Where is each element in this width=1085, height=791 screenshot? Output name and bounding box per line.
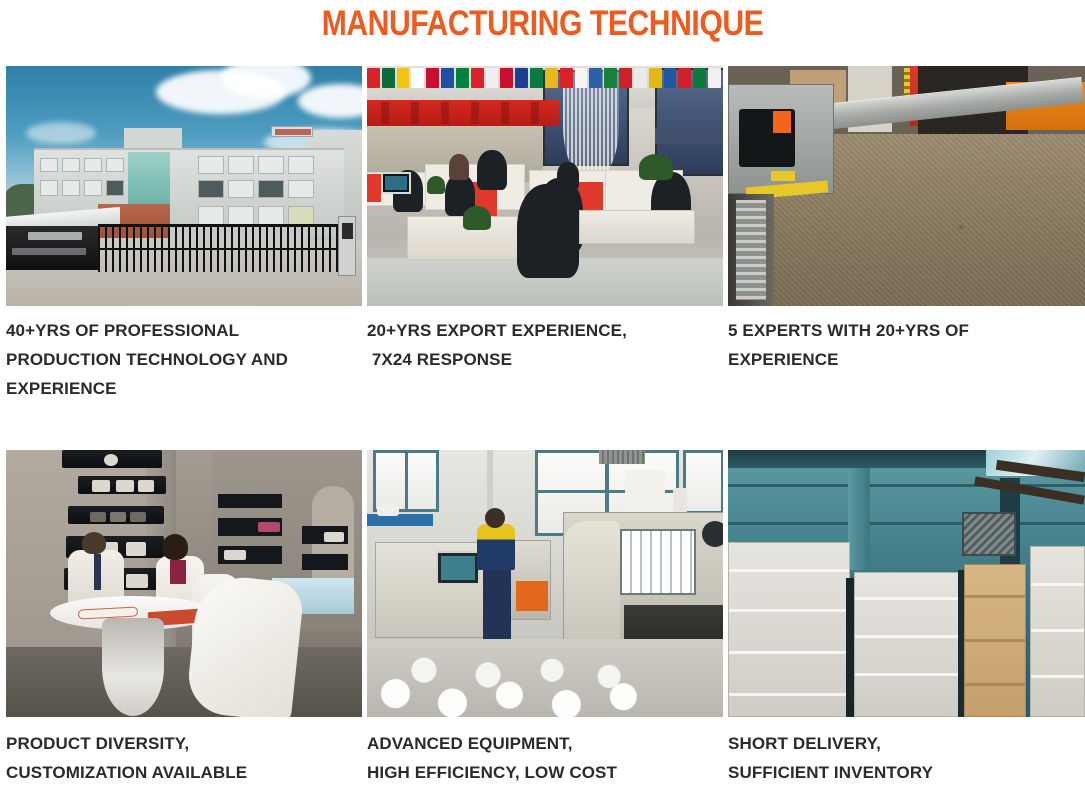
potted-plant [639, 154, 673, 180]
display-product [104, 454, 118, 466]
air-cooler-unit [962, 512, 1016, 556]
window-mullion [405, 450, 408, 512]
building-sign [271, 126, 313, 137]
office-desk [579, 210, 695, 244]
flag [560, 68, 573, 88]
cnc-cutting-machine-image[interactable] [728, 66, 1085, 306]
window [198, 180, 224, 198]
glass-curtain-wall [128, 152, 170, 208]
ceiling-duct [599, 450, 645, 464]
feature-card-product-diversity[interactable]: PRODUCT DIVERSITY,CUSTOMIZATION AVAILABL… [6, 450, 362, 787]
cnc-lathe-left [375, 542, 487, 638]
manufacturing-technique-section: MANUFACTURING TECHNIQUE [0, 0, 1085, 791]
feature-caption: 40+YRS OF PROFESSIONALPRODUCTION TECHNOL… [6, 306, 362, 403]
cutting-head-assembly [728, 84, 834, 194]
wrapped-pallet [854, 572, 960, 717]
machine-window-grid [620, 529, 696, 595]
flag [515, 68, 528, 88]
seated-man-head [82, 532, 106, 554]
window [258, 206, 284, 226]
wrapped-pallet [728, 542, 850, 717]
wrapped-pallet [1030, 546, 1085, 717]
distant-hills [655, 128, 723, 144]
flag [530, 68, 543, 88]
warehouse-stacked-pallets-image[interactable] [728, 450, 1085, 717]
page-title: MANUFACTURING TECHNIQUE [76, 4, 1009, 44]
showroom-floor [6, 647, 362, 717]
window [258, 156, 284, 174]
flag [426, 68, 439, 88]
display-product [224, 550, 246, 560]
office-worker [477, 150, 507, 190]
flag [456, 68, 469, 88]
cloud-shape [26, 122, 96, 144]
feature-caption: PRODUCT DIVERSITY,CUSTOMIZATION AVAILABL… [6, 717, 362, 787]
caption-line: 40+YRS OF PROFESSIONAL [6, 321, 239, 340]
window [198, 156, 224, 174]
display-niche [302, 554, 348, 570]
feature-card-export-experience[interactable]: 20+YRS EXPORT EXPERIENCE, 7X24 RESPONSE [367, 66, 723, 374]
flag [575, 68, 588, 88]
caption-line: 5 EXPERTS WITH 20+YRS OF [728, 321, 969, 340]
display-product [130, 512, 146, 522]
white-bucket [625, 470, 665, 518]
feature-card-advanced-equipment[interactable]: ADVANCED EQUIPMENT,HIGH EFFICIENCY, LOW … [367, 450, 723, 787]
flag [708, 68, 721, 88]
caption-line: PRODUCT DIVERSITY, [6, 734, 189, 753]
flag [367, 68, 380, 88]
feature-caption: 5 EXPERTS WITH 20+YRS OFEXPERIENCE [728, 306, 1085, 374]
caption-line: EXPERIENCE [728, 350, 839, 369]
flag [545, 68, 558, 88]
flag [471, 68, 484, 88]
machine-fan [702, 521, 723, 547]
flag [678, 68, 691, 88]
display-product [92, 480, 110, 492]
worker-uniform [477, 524, 515, 570]
company-signboard [6, 226, 98, 270]
flag [649, 68, 662, 88]
flag [397, 68, 410, 88]
window [228, 156, 254, 174]
display-product [110, 512, 126, 522]
cardboard-carton-stack [964, 564, 1026, 717]
display-niche [218, 494, 282, 508]
orange-tag [773, 111, 791, 133]
display-product [258, 522, 280, 532]
window [106, 158, 124, 172]
window [258, 180, 284, 198]
display-product [138, 480, 154, 492]
window [40, 158, 58, 172]
caption-line: SUFFICIENT INVENTORY [728, 763, 933, 782]
workshop-window [683, 450, 723, 514]
display-product [324, 532, 344, 542]
window [228, 180, 254, 198]
orange-machine-part [516, 581, 548, 611]
warehouse-column [848, 460, 870, 570]
caption-line: 20+YRS EXPORT EXPERIENCE, [367, 321, 627, 340]
flag [604, 68, 617, 88]
seated-woman-head [162, 534, 188, 560]
flag [382, 68, 395, 88]
fence-rail [98, 248, 343, 250]
caption-line: SHORT DELIVERY, [728, 734, 881, 753]
flag [589, 68, 602, 88]
display-product [126, 574, 148, 588]
cubicle-red-panel [367, 174, 381, 202]
caption-line: ADVANCED EQUIPMENT, [367, 734, 573, 753]
window [228, 206, 254, 226]
display-product [90, 512, 106, 522]
window [84, 158, 102, 172]
cnc-lathe-workshop-image[interactable] [367, 450, 723, 717]
cloud-shape [298, 84, 362, 118]
international-flags-bunting [367, 68, 723, 88]
machine-side-rail [728, 194, 774, 306]
caption-line: EXPERIENCE [6, 379, 117, 398]
monitor [381, 172, 411, 194]
flag [634, 68, 647, 88]
flag [693, 68, 706, 88]
caption-line: HIGH EFFICIENCY, LOW COST [367, 763, 617, 782]
showroom-client-meeting-image[interactable] [6, 450, 362, 717]
feature-caption: SHORT DELIVERY,SUFFICIENT INVENTORY [728, 717, 1085, 787]
window [84, 180, 102, 196]
flag [411, 68, 424, 88]
red-decor-band [367, 100, 559, 126]
feature-caption: ADVANCED EQUIPMENT,HIGH EFFICIENCY, LOW … [367, 717, 723, 787]
potted-plant [463, 206, 491, 230]
window [288, 180, 314, 198]
cnc-control-panel [436, 551, 480, 585]
flag [486, 68, 499, 88]
white-ceramic-parts-trays [367, 639, 723, 717]
fence-rail [98, 224, 343, 227]
feature-card-expert-team[interactable]: 5 EXPERTS WITH 20+YRS OFEXPERIENCE [728, 66, 1085, 374]
window [62, 180, 80, 196]
window [62, 158, 80, 172]
window [288, 156, 314, 174]
caption-line: 7X24 RESPONSE [367, 350, 512, 369]
necktie [94, 554, 101, 590]
wall-pipe [487, 450, 493, 510]
company-name-text [12, 248, 86, 255]
stored-part [377, 504, 399, 516]
international-sales-office-image[interactable] [367, 66, 723, 306]
blue-storage-rack [367, 514, 433, 526]
window [106, 180, 124, 196]
office-worker [517, 184, 579, 278]
caption-line: CUSTOMIZATION AVAILABLE [6, 763, 247, 782]
company-logo [28, 232, 82, 240]
flag [500, 68, 513, 88]
factory-building-exterior-image[interactable] [6, 66, 362, 306]
yellow-marker [771, 171, 795, 181]
potted-plant [427, 176, 445, 194]
feature-card-short-delivery[interactable]: SHORT DELIVERY,SUFFICIENT INVENTORY [728, 450, 1085, 787]
display-product [126, 542, 146, 556]
window [198, 206, 224, 226]
caption-line: PRODUCTION TECHNOLOGY AND [6, 350, 288, 369]
feature-caption: 20+YRS EXPORT EXPERIENCE, 7X24 RESPONSE [367, 306, 723, 374]
display-product [116, 480, 134, 492]
flag [619, 68, 632, 88]
wall-seam [728, 522, 1085, 525]
feature-card-professional-production[interactable]: 40+YRS OF PROFESSIONALPRODUCTION TECHNOL… [6, 66, 362, 403]
woman-top [170, 560, 186, 584]
flag [441, 68, 454, 88]
window [40, 180, 58, 196]
office-worker [449, 154, 469, 180]
window [288, 206, 314, 226]
gate-post [338, 216, 356, 276]
worker-head [485, 508, 505, 528]
table-pedestal-base [102, 618, 164, 716]
flag [664, 68, 677, 88]
